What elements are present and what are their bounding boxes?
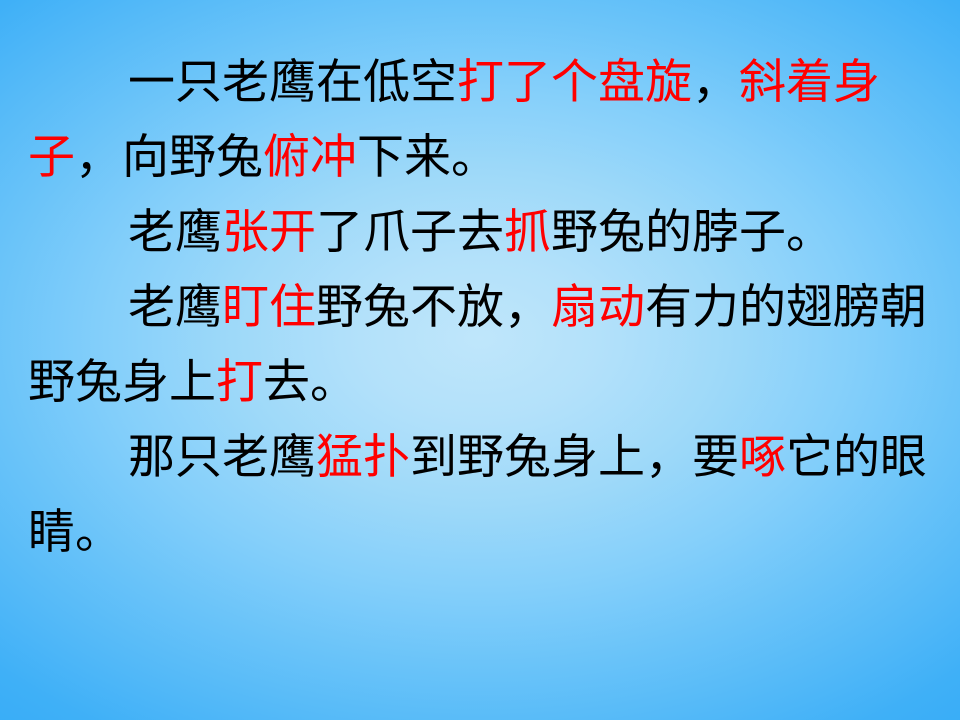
paragraph-4: 那只老鹰猛扑到野兔身上，要啄它的眼睛。 [28, 421, 934, 571]
plain-run: 那只老鹰 [128, 432, 316, 484]
highlighted-run: 啄 [739, 432, 786, 484]
highlighted-run: 抓 [504, 207, 551, 259]
plain-run: 一只老鹰在低空 [128, 57, 457, 109]
paragraph-1: 一只老鹰在低空打了个盘旋，斜着身子，向野兔俯冲下来。 [28, 46, 934, 196]
plain-run: 老鹰 [128, 207, 222, 259]
plain-run: 去。 [263, 357, 357, 409]
highlighted-run: 打 [216, 357, 263, 409]
slide-text-body: 一只老鹰在低空打了个盘旋，斜着身子，向野兔俯冲下来。 老鹰张开了爪子去抓野兔的脖… [28, 46, 934, 571]
slide-canvas: 一只老鹰在低空打了个盘旋，斜着身子，向野兔俯冲下来。 老鹰张开了爪子去抓野兔的脖… [0, 0, 960, 720]
paragraph-3: 老鹰盯住野兔不放，扇动有力的翅膀朝野兔身上打去。 [28, 271, 934, 421]
highlighted-run: 张开 [222, 207, 316, 259]
plain-run: ， [692, 57, 739, 109]
plain-run: 到野兔身上，要 [410, 432, 739, 484]
plain-run: 野兔不放， [316, 282, 551, 334]
plain-run: 了爪子去 [316, 207, 504, 259]
paragraph-2: 老鹰张开了爪子去抓野兔的脖子。 [28, 196, 934, 271]
plain-run: ，向野兔 [75, 132, 263, 184]
plain-run: 下来。 [357, 132, 498, 184]
plain-run: 野兔的脖子。 [551, 207, 833, 259]
highlighted-run: 俯冲 [263, 132, 357, 184]
highlighted-run: 扇动 [551, 282, 645, 334]
highlighted-run: 猛扑 [316, 432, 410, 484]
highlighted-run: 盯住 [222, 282, 316, 334]
highlighted-run: 打了个盘旋 [457, 57, 692, 109]
plain-run: 老鹰 [128, 282, 222, 334]
